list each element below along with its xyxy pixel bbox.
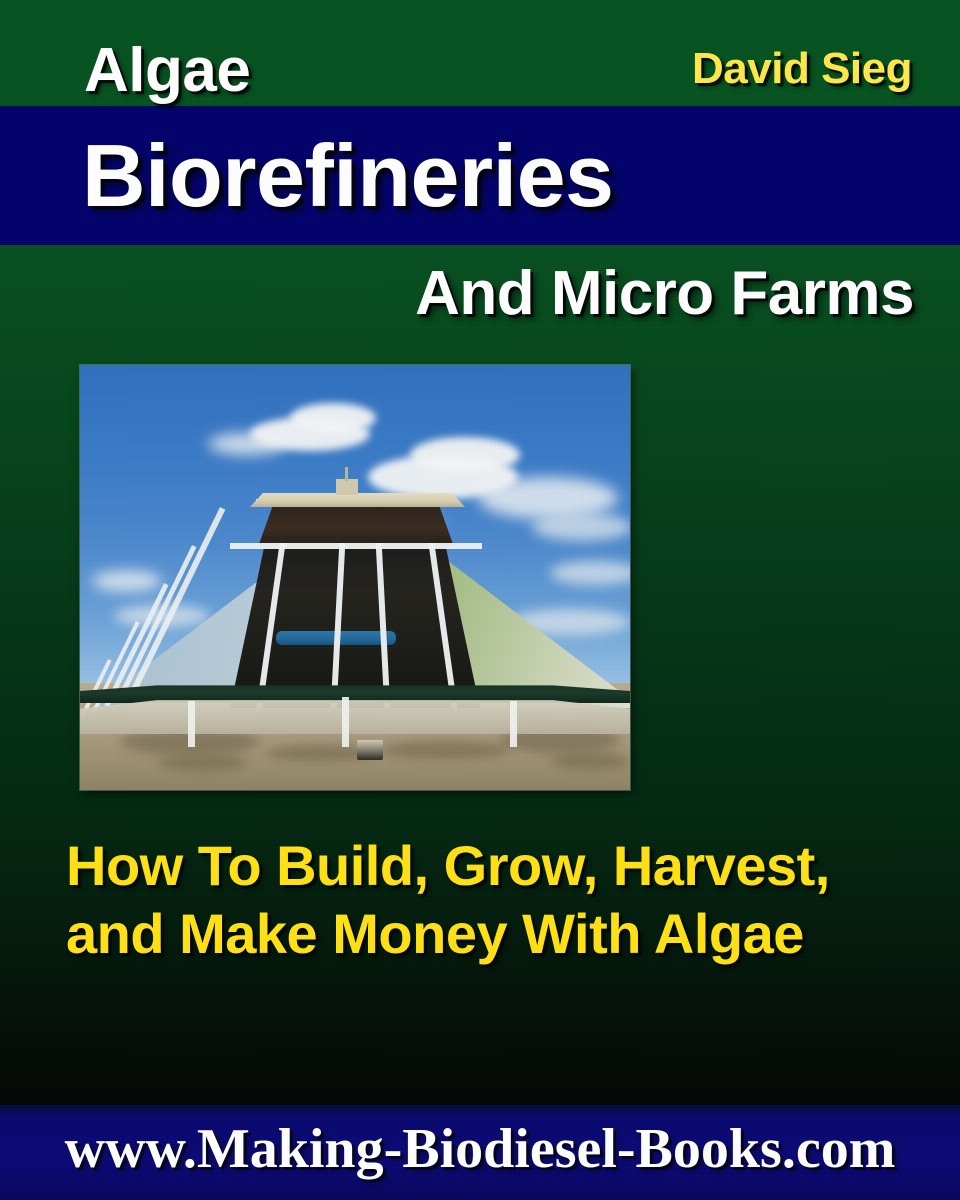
cloud [208,433,286,455]
tagline-line-2: and Make Money With Algae [66,900,906,968]
author-name: David Sieg [692,44,912,94]
toolbox [357,740,383,760]
cloud [410,437,520,473]
cover-photo [80,365,630,790]
vent-stack [336,479,358,495]
foundation-post [510,701,517,747]
book-cover: Algae David Sieg Biorefineries And Micro… [0,0,960,1200]
greenhouse-structure [80,485,630,715]
dirt-patch [550,753,630,769]
main-title: Biorefineries [82,125,613,227]
ridge-cap [250,493,465,507]
subtitle: And Micro Farms [415,258,914,329]
concrete-foundation [80,698,630,734]
foundation-post [342,697,349,747]
tagline: How To Build, Grow, Harvest, and Make Mo… [66,832,906,968]
tagline-line-1: How To Build, Grow, Harvest, [66,832,906,900]
foundation-post [188,701,195,747]
dirt-patch [380,741,510,759]
dirt-patch [158,755,248,771]
cloud [290,403,376,433]
vent-pole [345,467,348,481]
website-url[interactable]: www.Making-Biodiesel-Books.com [0,1117,960,1181]
upper-vent-opening [258,503,454,547]
series-word: Algae [84,35,250,106]
green-skirt-band [80,683,630,703]
frame-header [230,543,482,549]
